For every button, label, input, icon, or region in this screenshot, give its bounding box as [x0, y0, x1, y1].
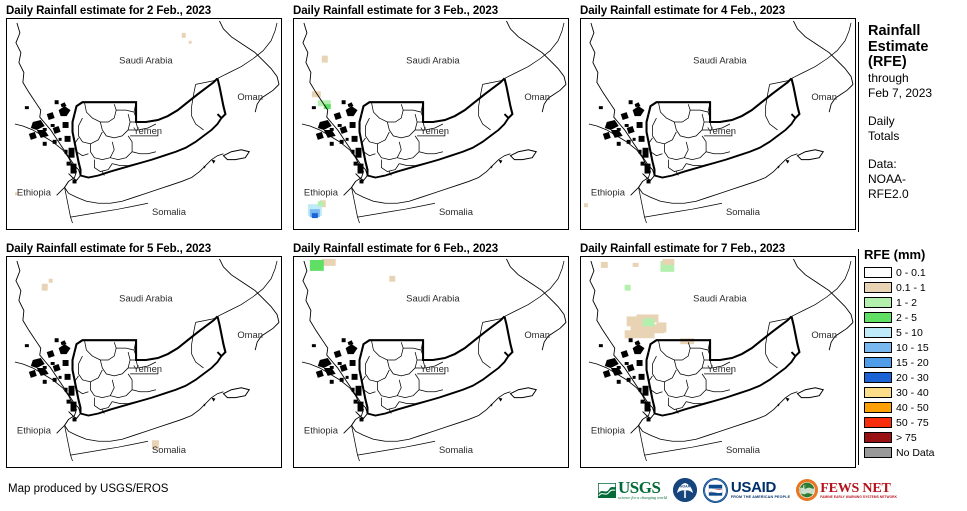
map-graphic: Saudi Arabia Oman Yemen Ethiopia Somalia: [7, 257, 281, 467]
legend-item: 1 - 2: [862, 295, 967, 310]
label-somalia: Somalia: [726, 206, 761, 217]
legend-item: 0 - 0.1: [862, 265, 967, 280]
map-frame[interactable]: Saudi Arabia Oman Yemen Ethiopia Somalia: [580, 256, 856, 468]
legend-swatch: [864, 297, 892, 308]
legend-label: 40 - 50: [896, 402, 929, 414]
legend-swatch: [864, 327, 892, 338]
legend-item: 15 - 20: [862, 355, 967, 370]
legend-item: 50 - 75: [862, 415, 967, 430]
fews-tagline: FAMINE EARLY WARNING SYSTEMS NETWORK: [820, 495, 897, 499]
map-graphic: Saudi Arabia Oman Yemen Ethiopia Somalia: [294, 19, 568, 229]
noaa-logo[interactable]: NOAA: [673, 478, 697, 502]
rainfall-cells: [584, 203, 588, 207]
label-saudi-arabia: Saudi Arabia: [406, 293, 460, 304]
rainfall-cells: [601, 259, 694, 344]
usaid-tagline: FROM THE AMERICAN PEOPLE: [731, 495, 790, 499]
map-graphic: Saudi Arabia Oman Yemen Ethiopia Somalia: [294, 257, 568, 467]
panel-title: Daily Rainfall estimate for 4 Feb., 2023: [580, 4, 856, 18]
rfe-data-line2: NOAA-: [868, 172, 967, 187]
label-oman: Oman: [524, 329, 550, 340]
legend-item: 10 - 15: [862, 340, 967, 355]
label-somalia: Somalia: [152, 206, 187, 217]
label-saudi-arabia: Saudi Arabia: [693, 293, 747, 304]
usgs-wordmark: USGS: [618, 480, 667, 495]
info-divider: [858, 22, 859, 232]
rfe-data-line3: RFE2.0: [868, 187, 967, 202]
rainfall-cells: [310, 259, 395, 282]
rfe-title-line1: Rainfall: [868, 24, 967, 40]
map-graphic: Saudi Arabia Oman Yemen Ethiopia Somalia: [581, 257, 855, 467]
rfe-totals-line1: Daily: [868, 114, 967, 129]
usaid-wordmark: USAID: [731, 481, 790, 495]
fews-wordmark: FEWS NET: [820, 482, 897, 495]
label-oman: Oman: [237, 329, 263, 340]
fews-net-logo[interactable]: F FEWS NET FAMINE EARLY WARNING SYSTEMS …: [796, 479, 897, 501]
legend-label: 1 - 2: [896, 297, 917, 309]
legend-label: 50 - 75: [896, 417, 929, 429]
label-saudi-arabia: Saudi Arabia: [693, 55, 747, 66]
label-saudi-arabia: Saudi Arabia: [119, 55, 173, 66]
legend-swatch: [864, 342, 892, 353]
label-ethiopia: Ethiopia: [591, 186, 626, 197]
legend-label: 10 - 15: [896, 342, 929, 354]
panel-title: Daily Rainfall estimate for 5 Feb., 2023: [6, 242, 282, 256]
label-ethiopia: Ethiopia: [304, 186, 339, 197]
legend-label: 30 - 40: [896, 387, 929, 399]
map-frame[interactable]: Saudi Arabia Oman Yemen Ethiopia Somalia: [6, 256, 282, 468]
panel-title: Daily Rainfall estimate for 7 Feb., 2023: [580, 242, 856, 256]
label-yemen: Yemen: [707, 125, 736, 136]
label-yemen: Yemen: [133, 125, 162, 136]
map-frame[interactable]: Saudi Arabia Oman Yemen Ethiopia Somalia: [293, 18, 569, 230]
label-yemen: Yemen: [420, 125, 449, 136]
rfe-title-line3: (RFE): [868, 55, 967, 71]
legend-swatch: [864, 417, 892, 428]
legend-item: No Data: [862, 445, 967, 460]
legend-item: 40 - 50: [862, 400, 967, 415]
usaid-seal-icon: [703, 478, 728, 503]
map-frame[interactable]: Saudi Arabia Oman Yemen Ethiopia Somalia: [293, 256, 569, 468]
svg-text:NOAA: NOAA: [680, 485, 691, 489]
legend-divider: [858, 249, 859, 465]
legend-item: 20 - 30: [862, 370, 967, 385]
legend-title: RFE (mm): [864, 247, 967, 262]
legend-item: > 75: [862, 430, 967, 445]
map-panel-3: Daily Rainfall estimate for 4 Feb., 2023…: [580, 4, 856, 230]
logo-strip: USGS science for a changing world NOAA U…: [598, 474, 897, 506]
legend-label: 0 - 0.1: [896, 267, 926, 279]
map-panel-4: Daily Rainfall estimate for 5 Feb., 2023…: [6, 242, 282, 468]
map-panel-1: Daily Rainfall estimate for 2 Feb., 2023…: [6, 4, 282, 230]
rfe-data-line1: Data:: [868, 157, 967, 172]
label-yemen: Yemen: [133, 363, 162, 374]
label-saudi-arabia: Saudi Arabia: [406, 55, 460, 66]
map-panel-6: Daily Rainfall estimate for 7 Feb., 2023…: [580, 242, 856, 468]
map-graphic: Saudi Arabia Oman Yemen Ethiopia Somalia: [581, 19, 855, 229]
legend: RFE (mm) 0 - 0.10.1 - 11 - 22 - 55 - 101…: [862, 247, 967, 460]
map-panel-2: Daily Rainfall estimate for 3 Feb., 2023…: [293, 4, 569, 230]
map-credit: Map produced by USGS/EROS: [8, 483, 168, 495]
label-ethiopia: Ethiopia: [17, 186, 52, 197]
legend-label: 15 - 20: [896, 357, 929, 369]
legend-label: 2 - 5: [896, 312, 917, 324]
legend-swatch: [864, 372, 892, 383]
legend-item: 0.1 - 1: [862, 280, 967, 295]
legend-swatch: [864, 387, 892, 398]
label-oman: Oman: [811, 329, 837, 340]
legend-label: 20 - 30: [896, 372, 929, 384]
legend-item: 5 - 10: [862, 325, 967, 340]
label-yemen: Yemen: [420, 363, 449, 374]
label-ethiopia: Ethiopia: [304, 424, 339, 435]
legend-item: 2 - 5: [862, 310, 967, 325]
noaa-seagull-icon: NOAA: [673, 478, 697, 502]
legend-label: 0.1 - 1: [896, 282, 926, 294]
rfe-totals-line2: Totals: [868, 129, 967, 144]
label-oman: Oman: [237, 91, 263, 102]
panel-title: Daily Rainfall estimate for 3 Feb., 2023: [293, 4, 569, 18]
label-somalia: Somalia: [439, 444, 474, 455]
usaid-logo[interactable]: USAID FROM THE AMERICAN PEOPLE: [703, 478, 790, 503]
legend-swatch: [864, 432, 892, 443]
map-frame[interactable]: Saudi Arabia Oman Yemen Ethiopia Somalia: [6, 18, 282, 230]
rfe-through-date: Feb 7, 2023: [868, 86, 967, 101]
legend-swatch: [864, 357, 892, 368]
label-somalia: Somalia: [726, 444, 761, 455]
legend-item: 30 - 40: [862, 385, 967, 400]
usgs-logo[interactable]: USGS science for a changing world: [598, 480, 667, 500]
panel-title: Daily Rainfall estimate for 6 Feb., 2023: [293, 242, 569, 256]
label-somalia: Somalia: [439, 206, 474, 217]
label-ethiopia: Ethiopia: [17, 424, 52, 435]
legend-swatch: [864, 282, 892, 293]
legend-label: No Data: [896, 447, 935, 459]
legend-swatch: [864, 312, 892, 323]
label-yemen: Yemen: [707, 363, 736, 374]
legend-label: > 75: [896, 432, 917, 444]
map-frame[interactable]: Saudi Arabia Oman Yemen Ethiopia Somalia: [580, 18, 856, 230]
label-somalia: Somalia: [152, 444, 187, 455]
map-panel-5: Daily Rainfall estimate for 6 Feb., 2023…: [293, 242, 569, 468]
label-saudi-arabia: Saudi Arabia: [119, 293, 173, 304]
rfe-through: through: [868, 71, 967, 86]
legend-rows: 0 - 0.10.1 - 11 - 22 - 55 - 1010 - 1515 …: [862, 265, 967, 460]
usgs-wave-icon: [598, 483, 616, 498]
map-graphic: Saudi Arabia Oman Yemen Ethiopia Somalia: [7, 19, 281, 229]
label-ethiopia: Ethiopia: [591, 424, 626, 435]
label-oman: Oman: [811, 91, 837, 102]
legend-swatch: [864, 267, 892, 278]
legend-swatch: [864, 402, 892, 413]
panel-title: Daily Rainfall estimate for 2 Feb., 2023: [6, 4, 282, 18]
rfe-title-line2: Estimate: [868, 40, 967, 56]
legend-swatch: [864, 447, 892, 458]
fews-globe-icon: F: [796, 479, 818, 501]
label-oman: Oman: [524, 91, 550, 102]
svg-text:F: F: [803, 485, 806, 490]
legend-label: 5 - 10: [896, 327, 923, 339]
usgs-tagline: science for a changing world: [618, 495, 667, 500]
